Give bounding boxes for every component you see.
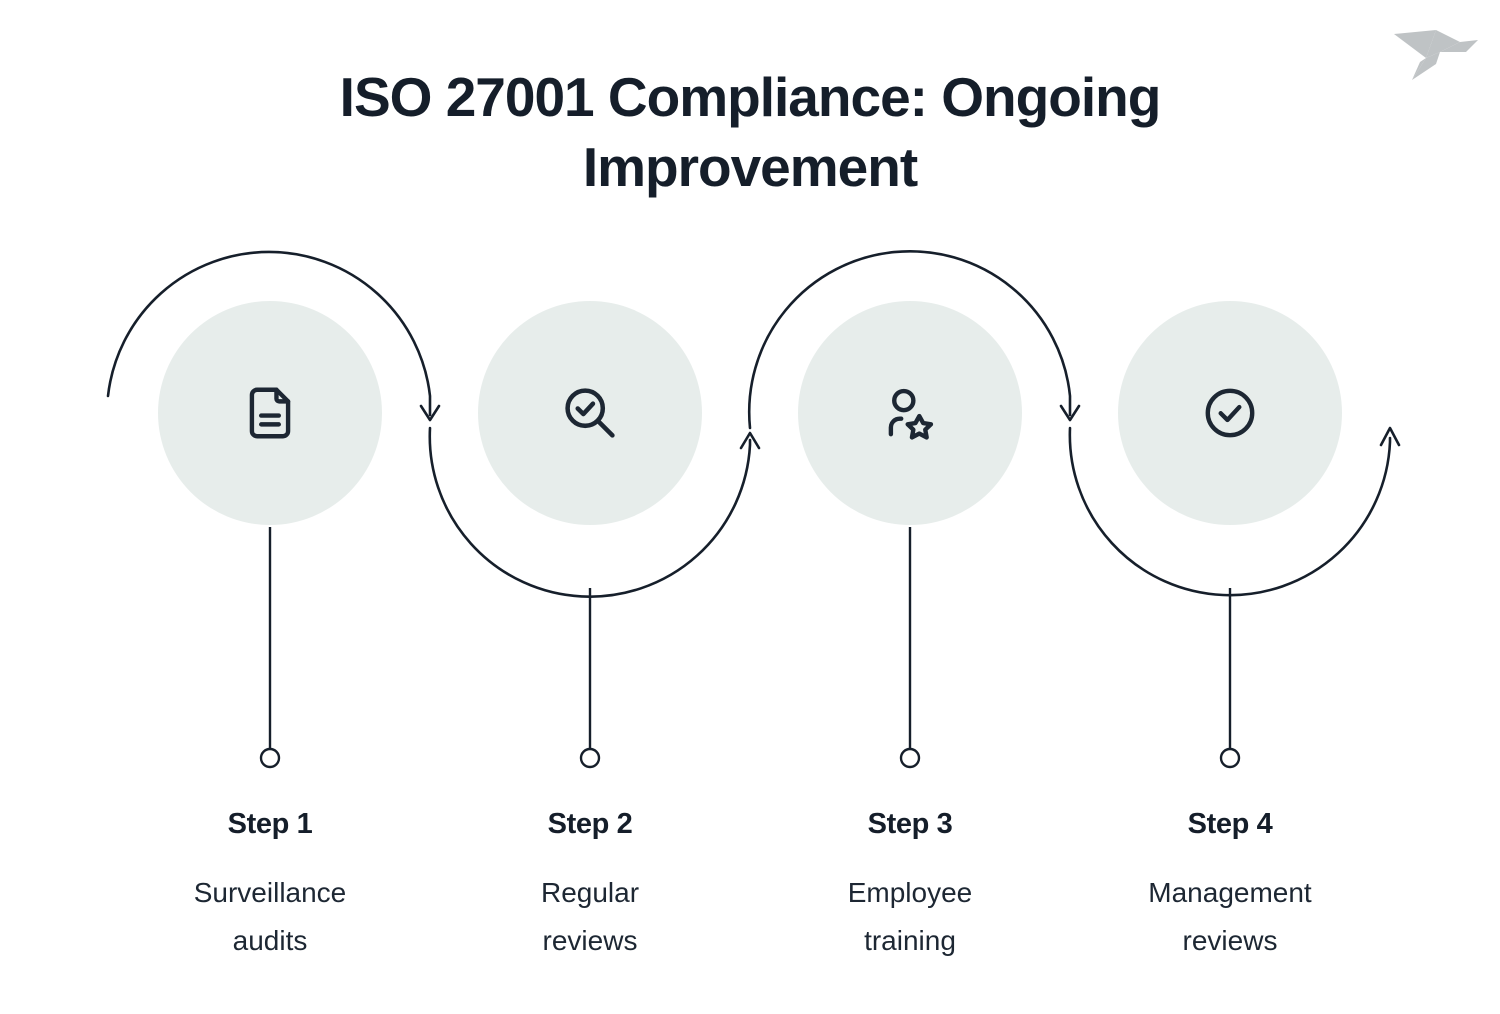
step-2-heading: Step 2	[460, 808, 720, 841]
step-2-icon-disc	[478, 301, 702, 525]
step-3-heading: Step 3	[780, 808, 1040, 841]
step-4-description-line1: Management	[1148, 877, 1311, 908]
step-3-description-line1: Employee	[848, 877, 973, 908]
step-4-icon-disc	[1118, 301, 1342, 525]
step-2-description: Regular reviews	[460, 869, 720, 965]
search-check-icon	[558, 381, 622, 445]
stem-endpoint-4	[1221, 749, 1239, 767]
step-3-description-line2: training	[864, 925, 956, 956]
step-1-heading: Step 1	[140, 808, 400, 841]
step-2-description-line2: reviews	[543, 925, 638, 956]
step-3-description: Employee training	[780, 869, 1040, 965]
step-1-description: Surveillance audits	[140, 869, 400, 965]
step-4-description-line2: reviews	[1183, 925, 1278, 956]
step-4-description: Management reviews	[1100, 869, 1360, 965]
step-2-text: Step 2 Regular reviews	[460, 808, 720, 965]
step-4-heading: Step 4	[1100, 808, 1360, 841]
check-circle-icon	[1199, 382, 1261, 444]
stem-endpoint-3	[901, 749, 919, 767]
stem-endpoint-1	[261, 749, 279, 767]
step-2-description-line1: Regular	[541, 877, 639, 908]
step-1-text: Step 1 Surveillance audits	[140, 808, 400, 965]
step-3-text: Step 3 Employee training	[780, 808, 1040, 965]
step-4-text: Step 4 Management reviews	[1100, 808, 1360, 965]
step-1-description-line2: audits	[233, 925, 308, 956]
person-star-icon	[879, 382, 941, 444]
stem-endpoint-2	[581, 749, 599, 767]
document-icon	[239, 382, 301, 444]
step-1-description-line1: Surveillance	[194, 877, 347, 908]
step-1-icon-disc	[158, 301, 382, 525]
step-3-icon-disc	[798, 301, 1022, 525]
